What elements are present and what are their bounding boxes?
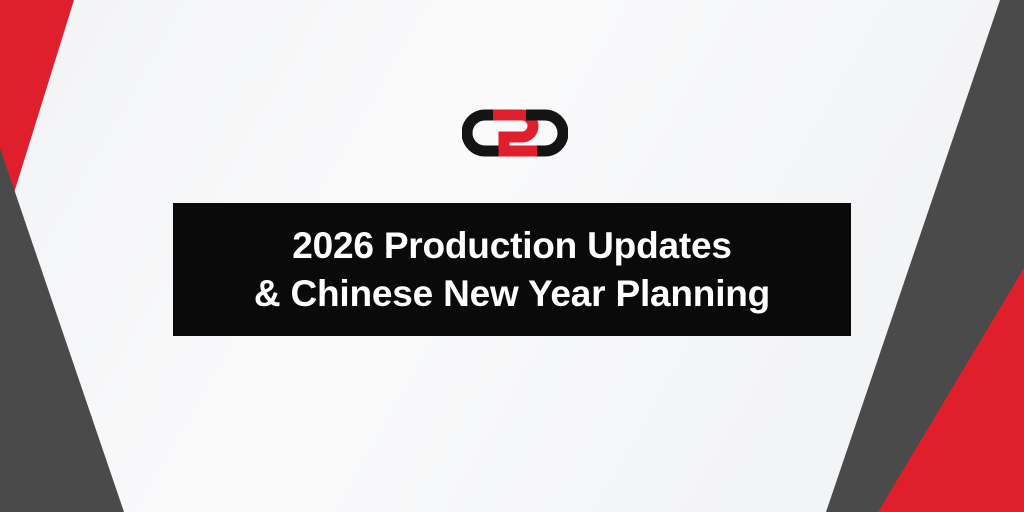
c2c-logo-icon [462,108,568,158]
c2c-chain-logo [462,108,568,158]
top-left-red-wedge [0,0,74,238]
title-line-2: & Chinese New Year Planning [254,270,770,318]
bottom-right-red-wedge [878,268,1024,512]
title-banner: 2026 Production Updates & Chinese New Ye… [173,203,851,336]
promo-banner: 2026 Production Updates & Chinese New Ye… [0,0,1024,512]
title-line-1: 2026 Production Updates [292,222,732,270]
logo-left-c [467,115,504,151]
top-right-gray-wedge [826,0,1024,512]
left-gray-wedge [0,148,124,512]
